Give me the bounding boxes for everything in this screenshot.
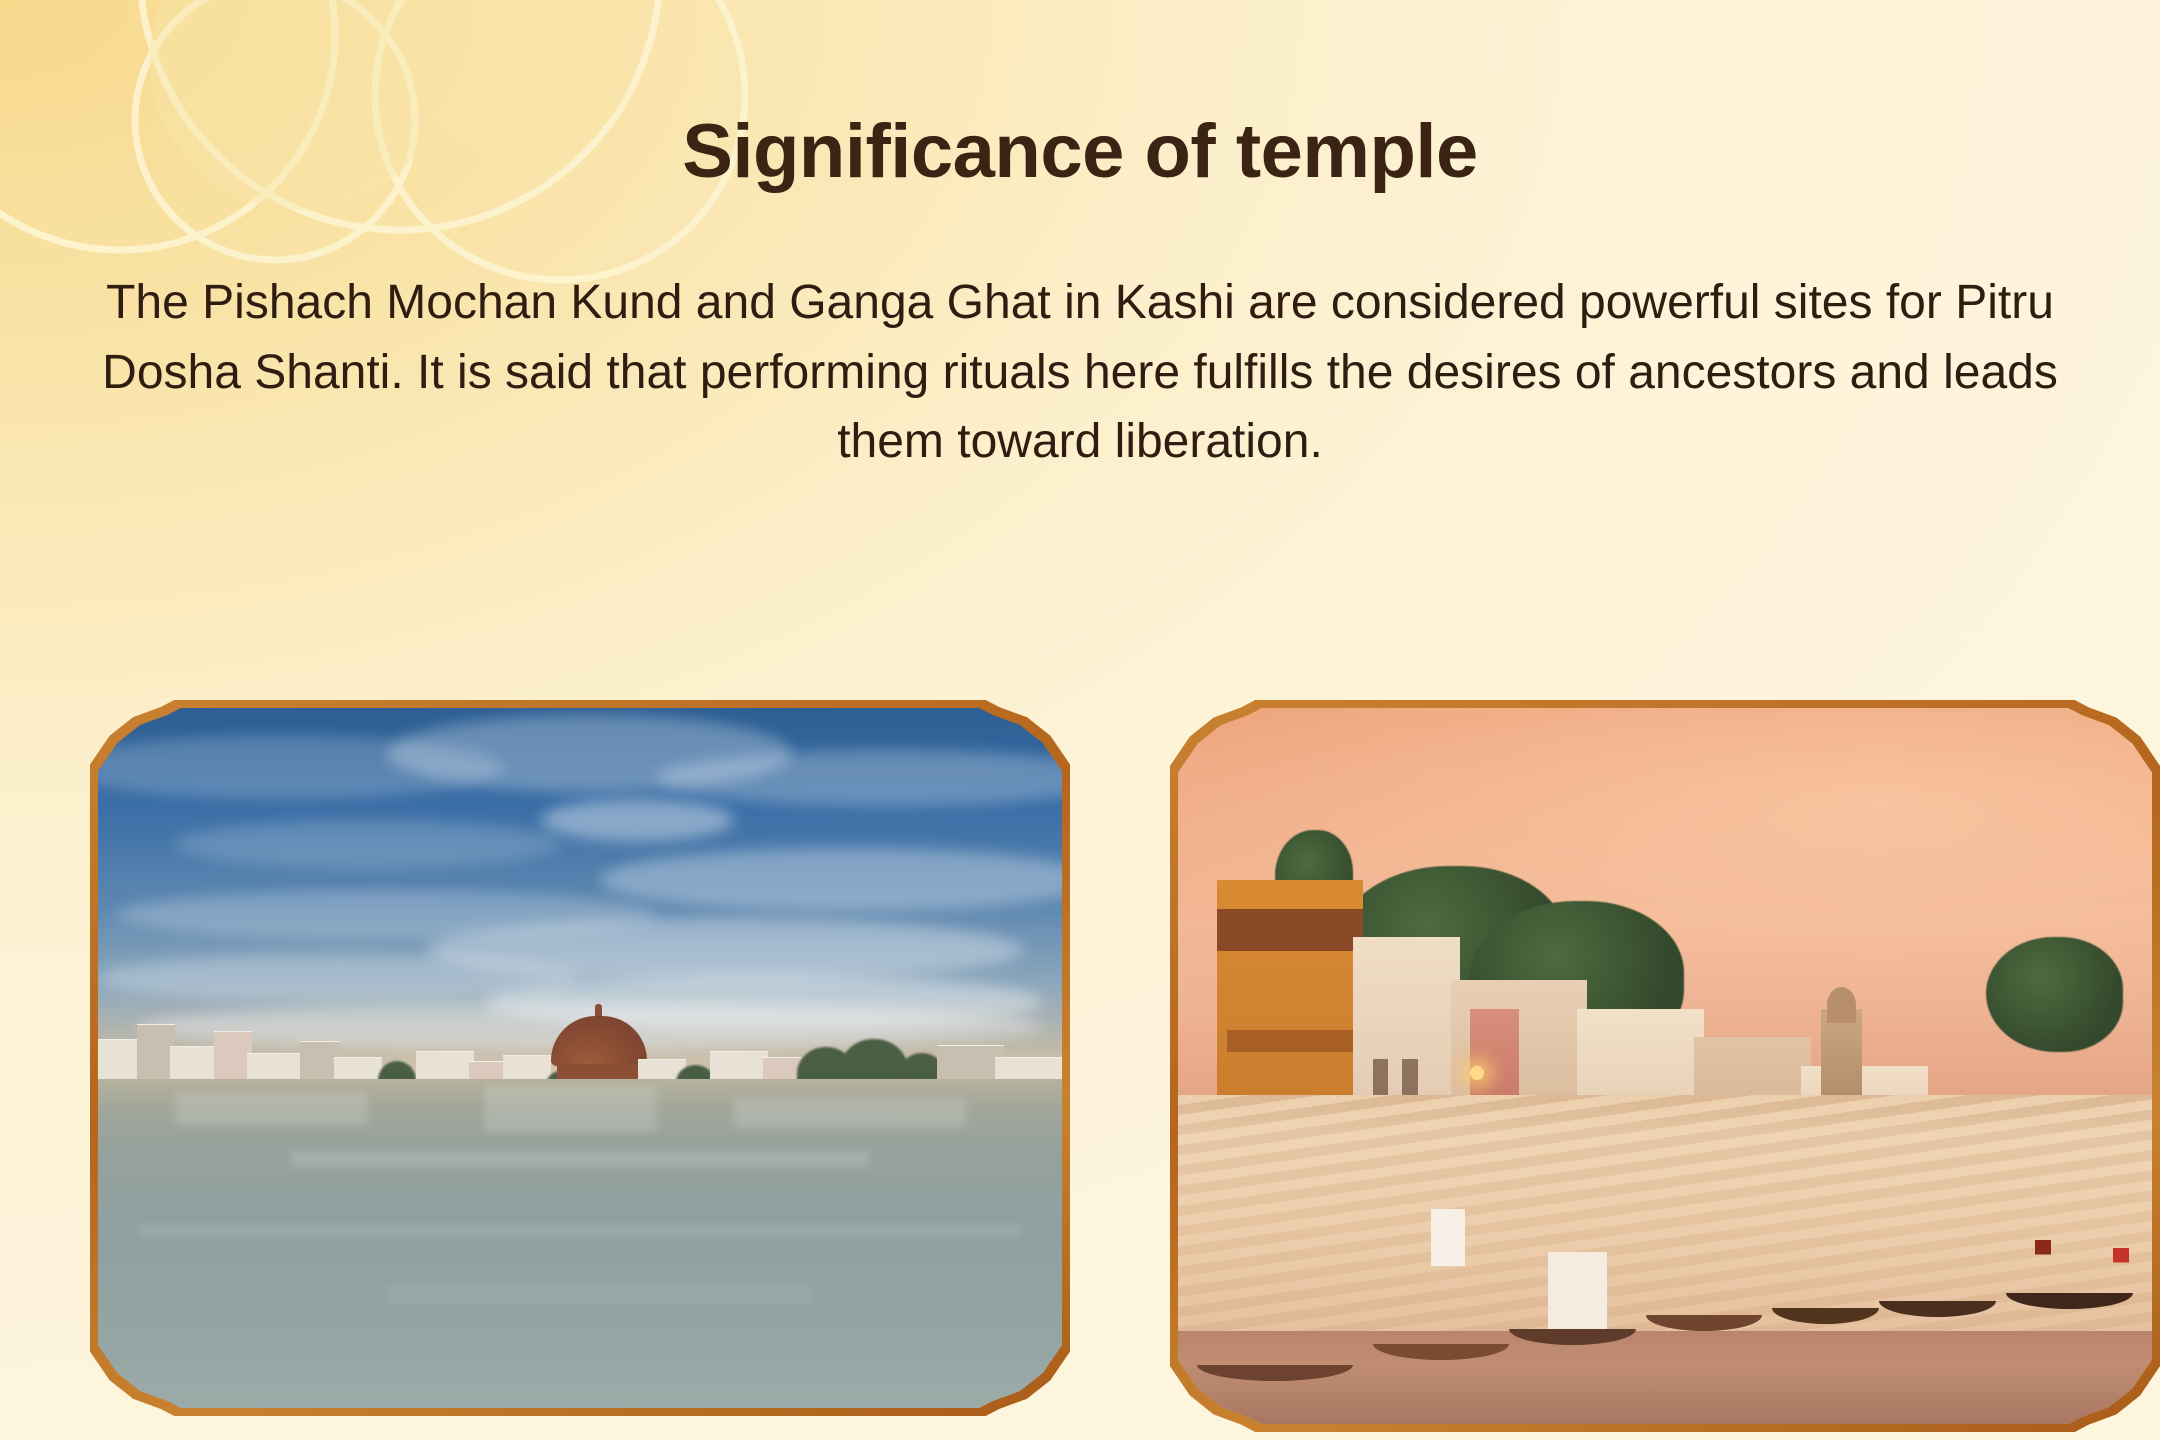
ganga-river-water — [1178, 1331, 2152, 1424]
flag-icon — [2113, 1248, 2129, 1274]
image-frame-pishach-mochan-kund[interactable] — [90, 700, 1070, 1416]
page-title: Significance of temple — [0, 108, 2160, 195]
kund-water — [98, 1079, 1062, 1408]
photo-ganga-ghat: पिशाचमोचन — [1178, 708, 2152, 1424]
body-paragraph: The Pishach Mochan Kund and Ganga Ghat i… — [70, 268, 2090, 477]
image-frame-ganga-ghat[interactable]: पिशाचमोचन — [1170, 700, 2160, 1432]
photo-pishach-mochan-kund — [98, 708, 1062, 1408]
flag-icon — [2035, 1240, 2051, 1266]
slide-canvas: Significance of temple The Pishach Mocha… — [0, 0, 2160, 1440]
image-gallery: पिशाचमोचन — [0, 700, 2160, 1440]
